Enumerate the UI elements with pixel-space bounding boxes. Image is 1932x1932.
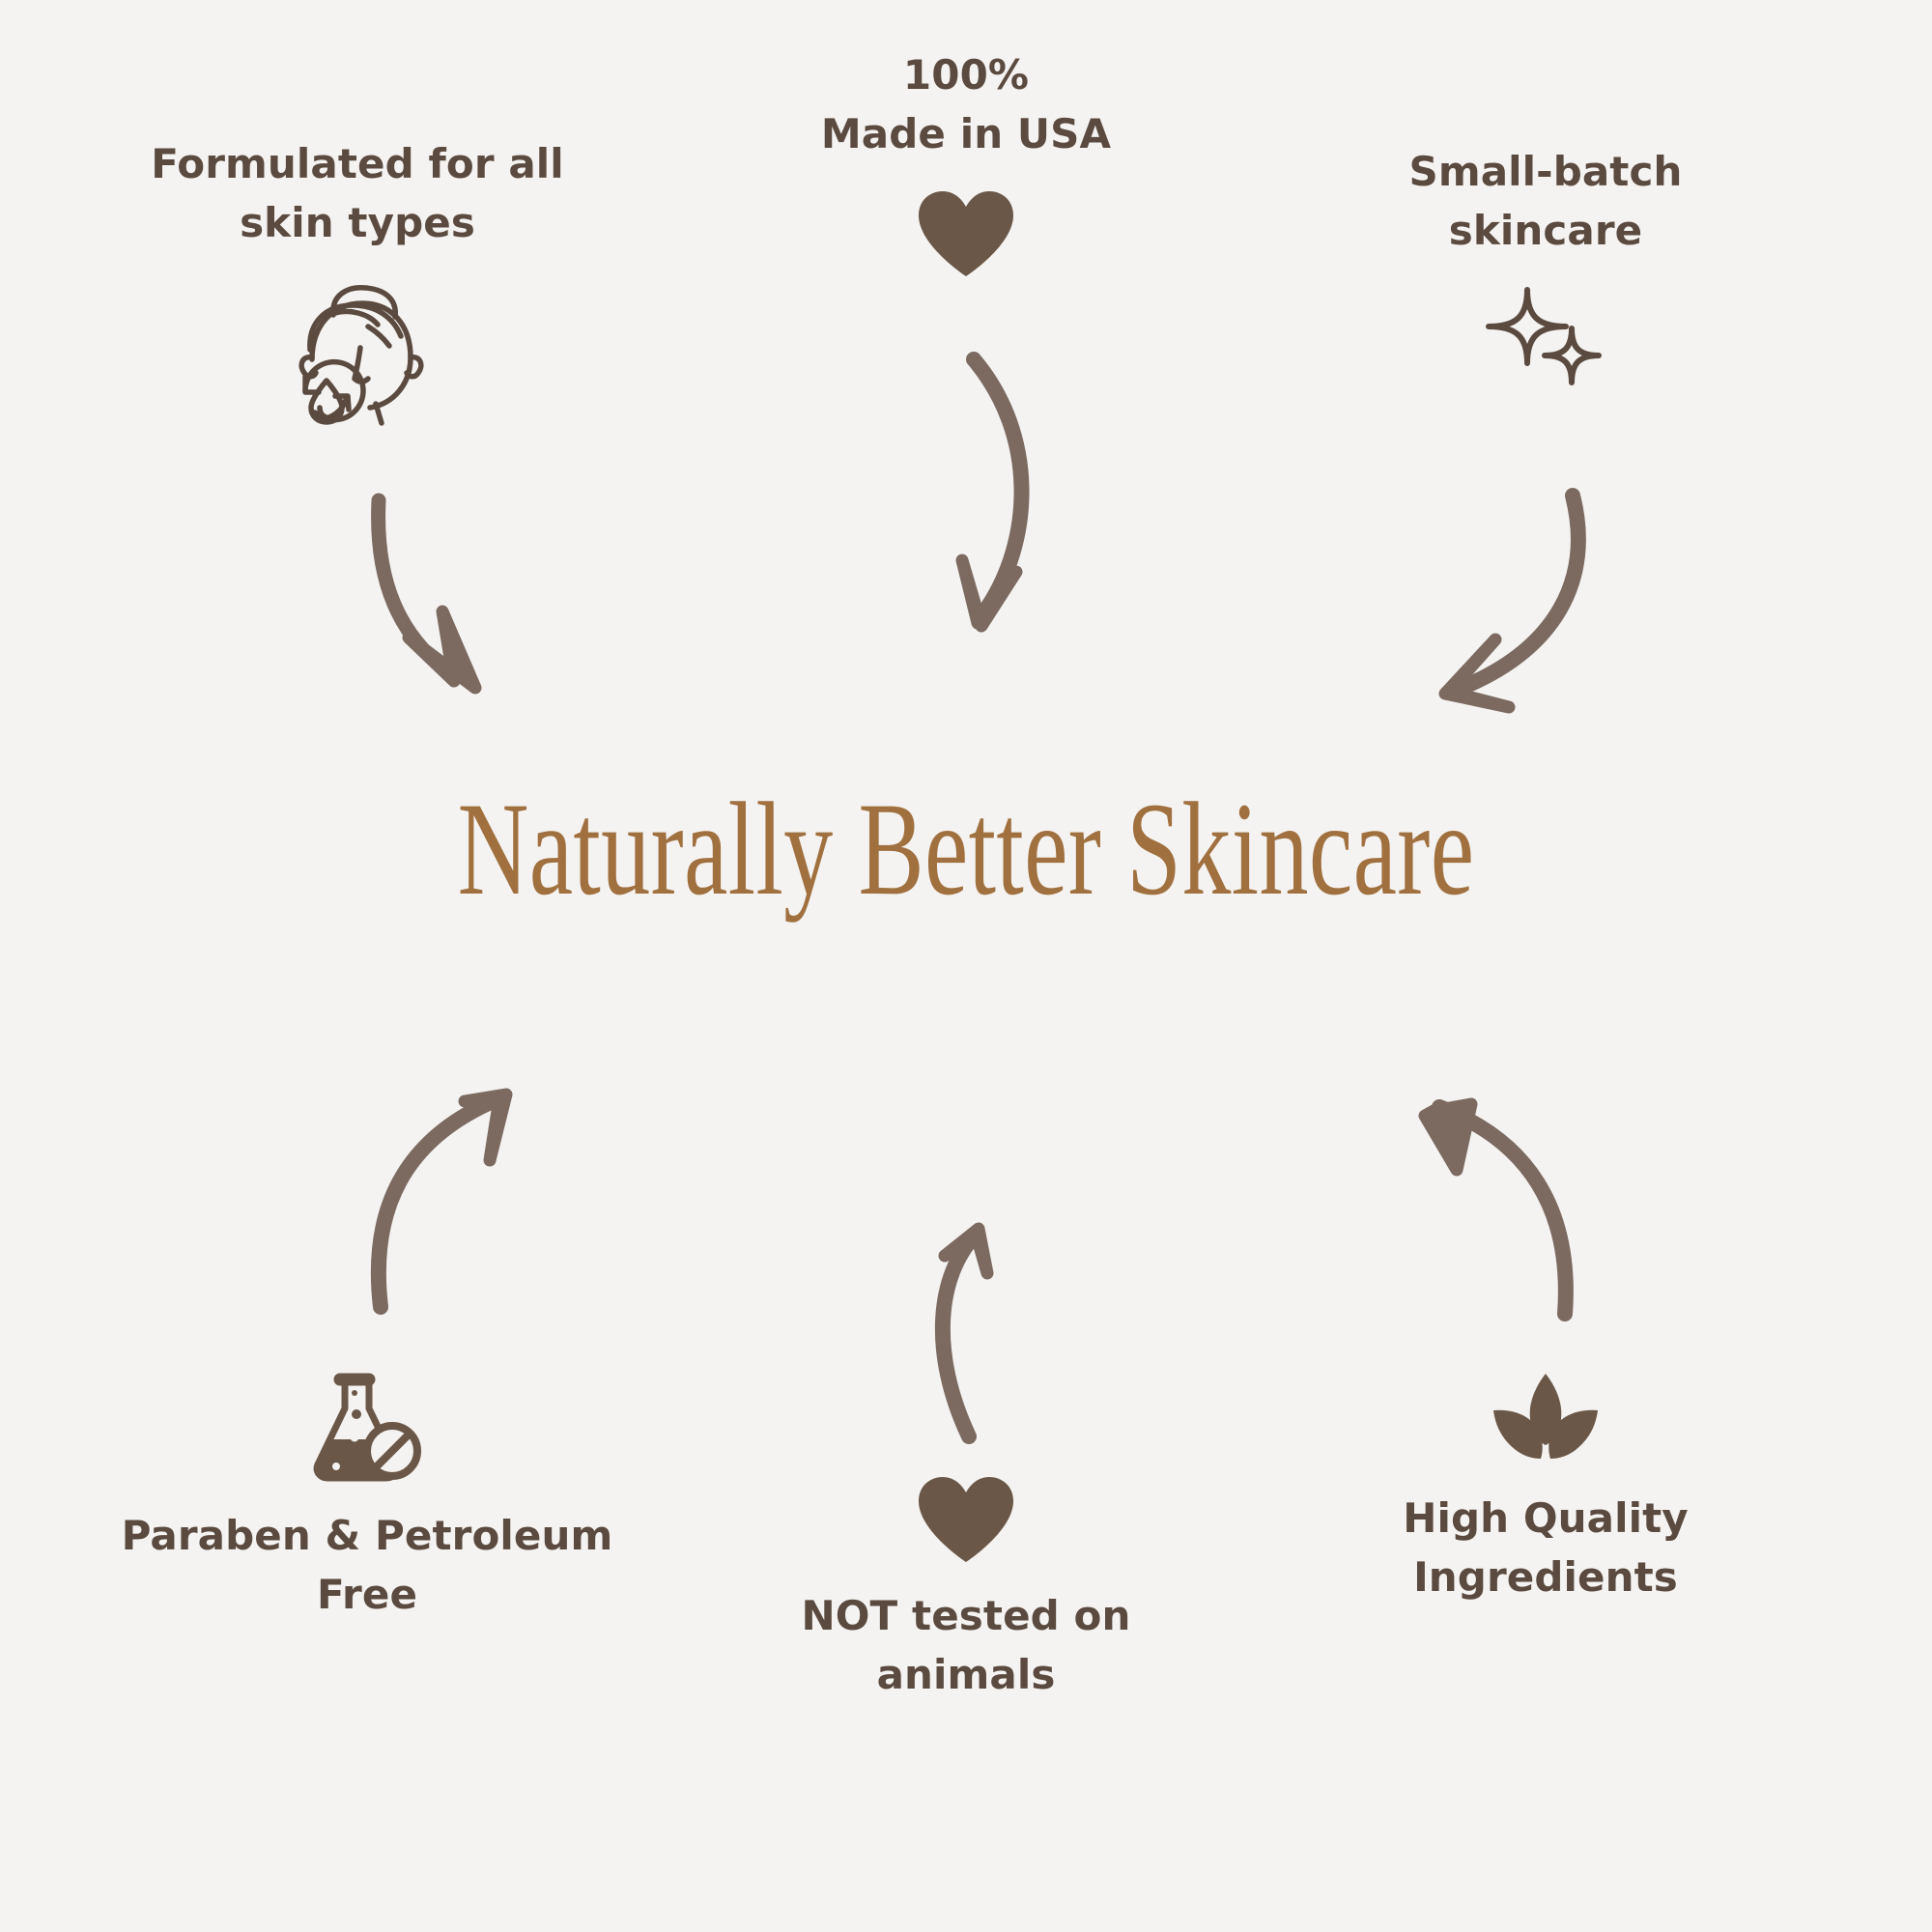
feature-small-batch-skincare: Small-batch skincare — [1333, 143, 1758, 400]
feature-label-formulated: Formulated for all skin types — [58, 135, 657, 253]
feature-paraben-petroleum-free: Paraben & Petroleum Free — [68, 1372, 667, 1625]
arrow-bottom-center — [943, 1229, 987, 1436]
feature-formulated-for-all-skin-types: Formulated for all skin types — [58, 135, 657, 431]
arrow-bottom-left — [379, 1094, 506, 1307]
heart-icon — [915, 1473, 1017, 1566]
arrow-bottom-right — [1425, 1104, 1566, 1314]
arrow-top-left — [379, 500, 475, 688]
feature-label-high-quality: High Quality Ingredients — [1333, 1490, 1758, 1607]
no-chemicals-flask-icon — [309, 1372, 425, 1486]
sparkles-icon — [1483, 284, 1608, 400]
feature-label-small-batch: Small-batch skincare — [1333, 143, 1758, 261]
feature-label-made-in-usa: 100% Made in USA — [773, 46, 1159, 164]
leaf-trio-icon — [1488, 1372, 1604, 1468]
page-title: Naturally Better Skincare — [251, 782, 1681, 916]
feature-label-not-tested: NOT tested on animals — [773, 1587, 1159, 1705]
infographic-canvas: Formulated for all skin types — [0, 0, 1932, 1932]
feature-high-quality-ingredients: High Quality Ingredients — [1333, 1372, 1758, 1607]
heart-icon — [915, 187, 1017, 280]
feature-made-in-usa: 100% Made in USA — [773, 46, 1159, 280]
feature-label-paraben-free: Paraben & Petroleum Free — [68, 1507, 667, 1625]
arrow-top-center — [962, 359, 1022, 626]
face-hydration-icon — [275, 276, 440, 431]
arrow-top-right — [1445, 496, 1578, 707]
feature-not-tested-on-animals: NOT tested on animals — [773, 1473, 1159, 1705]
